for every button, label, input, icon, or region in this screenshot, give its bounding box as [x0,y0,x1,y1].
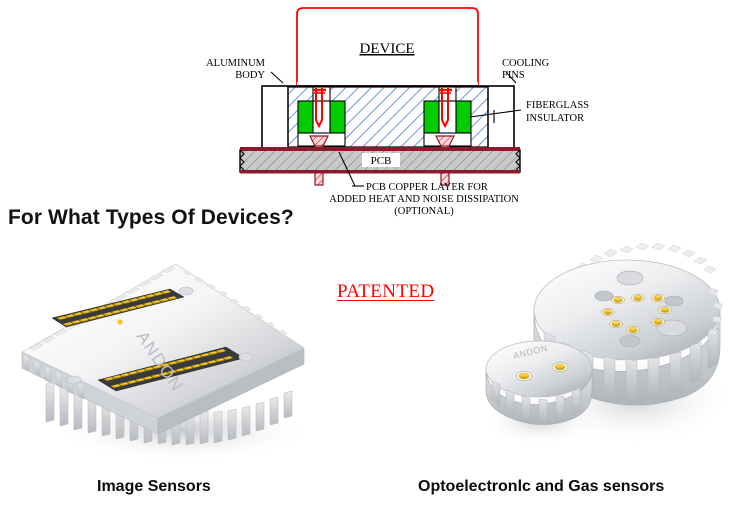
caption-image-sensors: Image Sensors [97,478,211,496]
label-aluminum-body-line1: ALUMINUM [206,58,266,69]
label-cooling-fins-line1: COOLING [502,58,550,69]
caption-optoelectronic-gas-sensors: Optoelectronlc and Gas sensors [418,478,664,496]
label-copper-line3: (OPTIONAL) [394,206,454,217]
label-aluminum-body-line2: BODY [235,70,265,81]
patented-mark: PATENTED [337,281,435,303]
slide-canvas: PCB DEVICE ALUMINUM BODY COOLING FINS FI… [0,0,738,508]
optoelectronic-gas-sensor-render: ANDON [468,228,730,470]
device-label: DEVICE [360,41,415,57]
label-fiberglass-line1: FIBERGLASS [526,100,589,111]
pcb-layer: PCB [240,147,520,174]
cross-section-diagram: PCB DEVICE ALUMINUM BODY COOLING FINS FI… [0,0,738,232]
label-cooling-fins-line2: FINS [502,70,525,81]
label-fiberglass-line2: INSULATOR [526,113,584,124]
page-title: For What Types Of Devices? [8,206,294,230]
pcb-label: PCB [371,155,392,167]
label-copper-line2: ADDED HEAT AND NOISE DISSIPATION [329,194,519,205]
small-sensor-package: ANDON [486,341,592,425]
label-copper-line1: PCB COPPER LAYER FOR [366,182,488,193]
image-sensor-render: ANDON [8,244,328,470]
